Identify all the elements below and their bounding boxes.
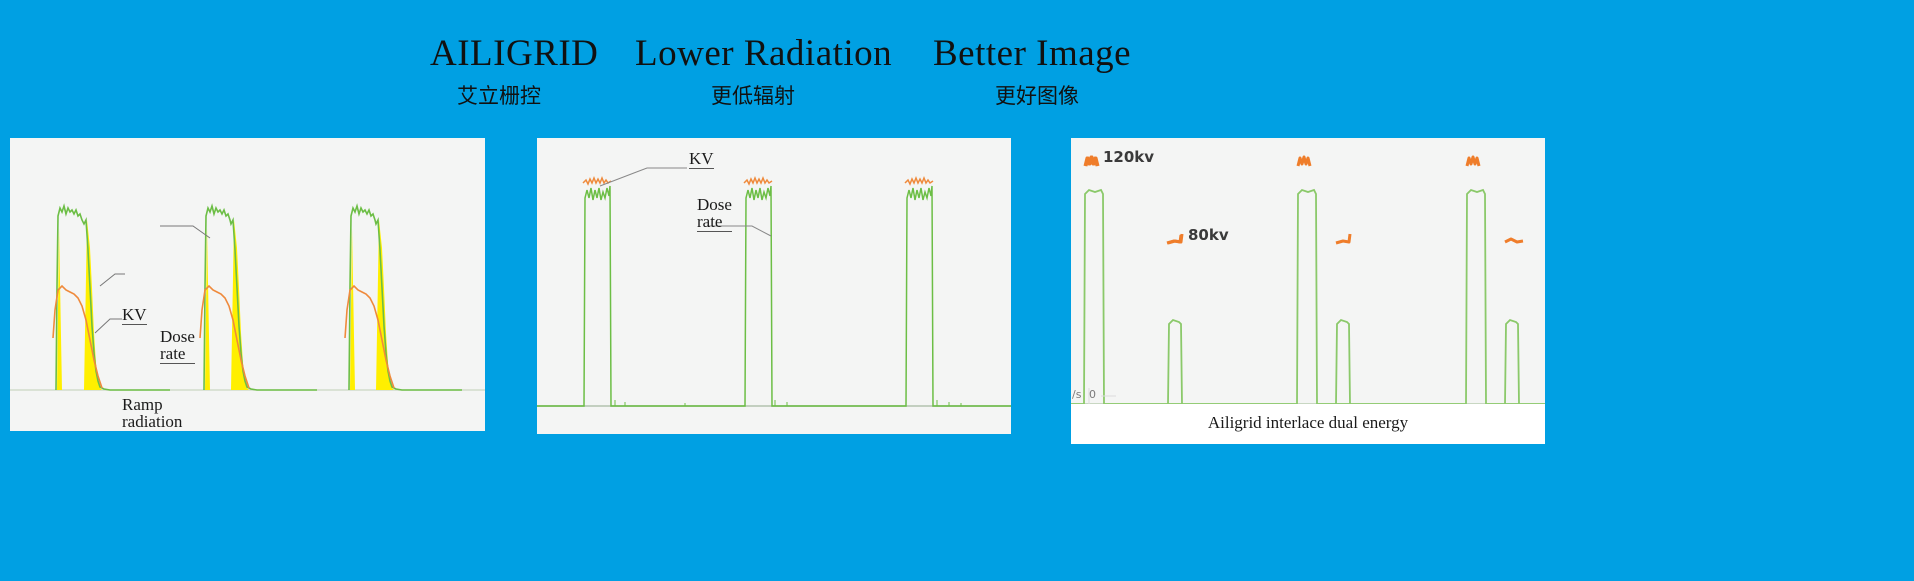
annotation-ramp-radiation: Ramp radiation (122, 396, 182, 431)
panel-normal-x-ray-pulse: KV Dose rate Ramp radiation Normal x ray… (10, 138, 485, 431)
high-energy-pulse (1071, 190, 1171, 404)
dose-rate-curve (349, 206, 462, 390)
chart-normal-x-ray-pulse (10, 138, 485, 431)
ramp-radiation-area (84, 220, 102, 390)
annotation-kv: KV (689, 150, 714, 169)
headline-better-image-cn: 更好图像 (995, 80, 1079, 110)
ramp-radiation-area (376, 220, 394, 390)
axis-zero-label: 0 (1089, 388, 1096, 401)
dose-rate-curve (204, 206, 317, 390)
headline-lower-radiation-cn: 更低辐射 (711, 80, 795, 110)
dose-rate-curve (56, 206, 170, 390)
headline-lower-radiation-en: Lower Radiation (635, 32, 892, 75)
chart-ailigrid-interlace-dual-energy (1071, 138, 1545, 431)
low-energy-pulse (1505, 320, 1519, 404)
low-energy-pulse (1336, 320, 1350, 404)
kv-marker-low-energy (1336, 234, 1350, 243)
legend-swatch-80kv (1167, 235, 1181, 243)
kv-marker-high-energy (1467, 157, 1479, 166)
leader-line-kv (600, 168, 687, 186)
annotation-kv: KV (122, 306, 147, 325)
panel-ailigrid-interlace-dual-energy: 120kv 80kv /s 0 (1071, 138, 1545, 431)
kv-marker-high-energy (1298, 157, 1310, 166)
headline-better-image-en: Better Image (933, 32, 1131, 75)
high-energy-pulse (1351, 190, 1545, 404)
panel-3-caption-strip: Ailigrid interlace dual energy (1071, 404, 1545, 444)
header-banner: AILIGRID 艾立栅控 Lower Radiation 更低辐射 Bette… (0, 0, 1914, 130)
leader-line-dose (160, 226, 210, 238)
legend-label-120kv: 120kv (1103, 148, 1154, 166)
legend-label-80kv: 80kv (1188, 226, 1229, 244)
leader-line-ramp (100, 274, 125, 286)
kv-flat-top (905, 178, 933, 184)
panel-caption-dual-energy: Ailigrid interlace dual energy (1071, 413, 1545, 433)
kv-marker-low-energy (1505, 239, 1523, 242)
headline-ailigrid-cn: 艾立栅控 (457, 80, 541, 110)
dose-rate-square-pulse (797, 186, 1011, 406)
chart-ailigrid-x-ray-pulse (537, 138, 1011, 434)
headline-ailigrid-en: AILIGRID (430, 32, 598, 75)
high-energy-pulse (1171, 190, 1351, 404)
ramp-radiation-area (231, 220, 249, 390)
panel-ailigrid-x-ray-pulse: KV Dose rate Ailigrid x ray pulse (537, 138, 1011, 434)
dose-rate-square-pulse (537, 186, 627, 406)
annotation-dose-rate: Dose rate (160, 328, 195, 364)
kv-flat-top (744, 178, 772, 184)
axis-unit-label: /s (1072, 388, 1081, 401)
annotation-dose-rate: Dose rate (697, 196, 732, 232)
leader-line-kv (95, 319, 122, 333)
low-energy-pulse (1168, 320, 1182, 404)
